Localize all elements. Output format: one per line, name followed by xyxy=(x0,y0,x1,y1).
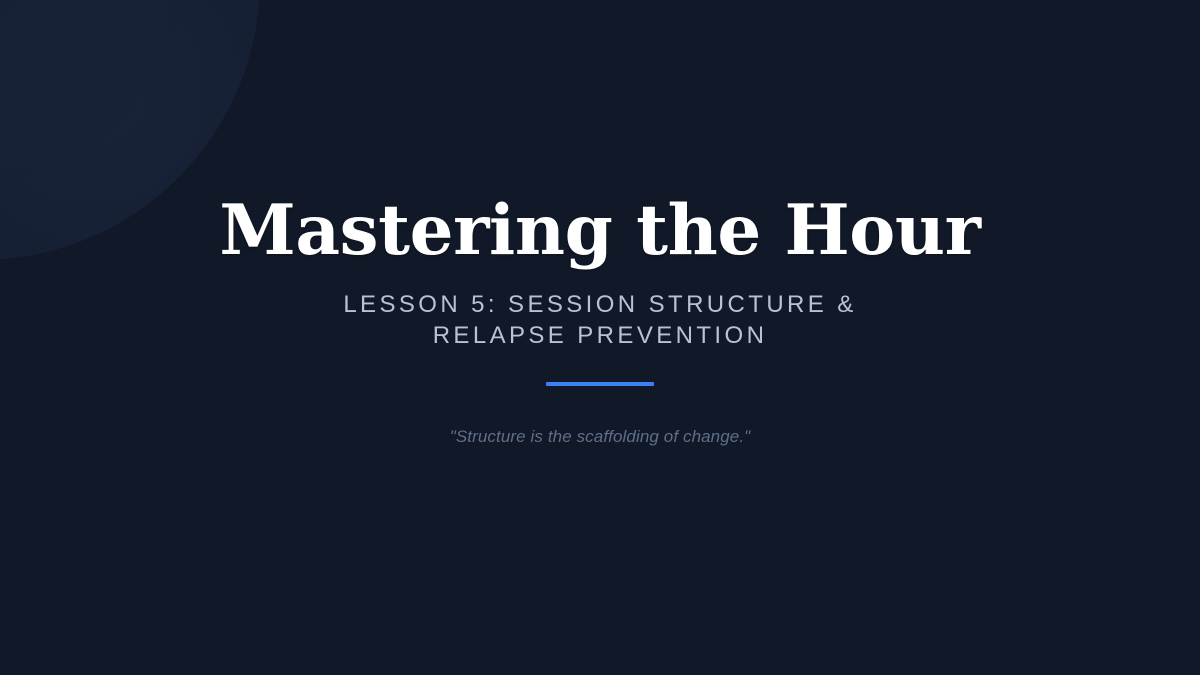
slide-title: Mastering the Hour xyxy=(219,196,980,265)
slide-subtitle: Lesson 5: Session Structure & Relapse Pr… xyxy=(276,289,924,351)
slide-content: Mastering the Hour Lesson 5: Session Str… xyxy=(0,0,1200,675)
accent-divider xyxy=(546,382,654,386)
slide-quote: "Structure is the scaffolding of change.… xyxy=(450,426,751,448)
title-slide: Mastering the Hour Lesson 5: Session Str… xyxy=(0,0,1200,675)
